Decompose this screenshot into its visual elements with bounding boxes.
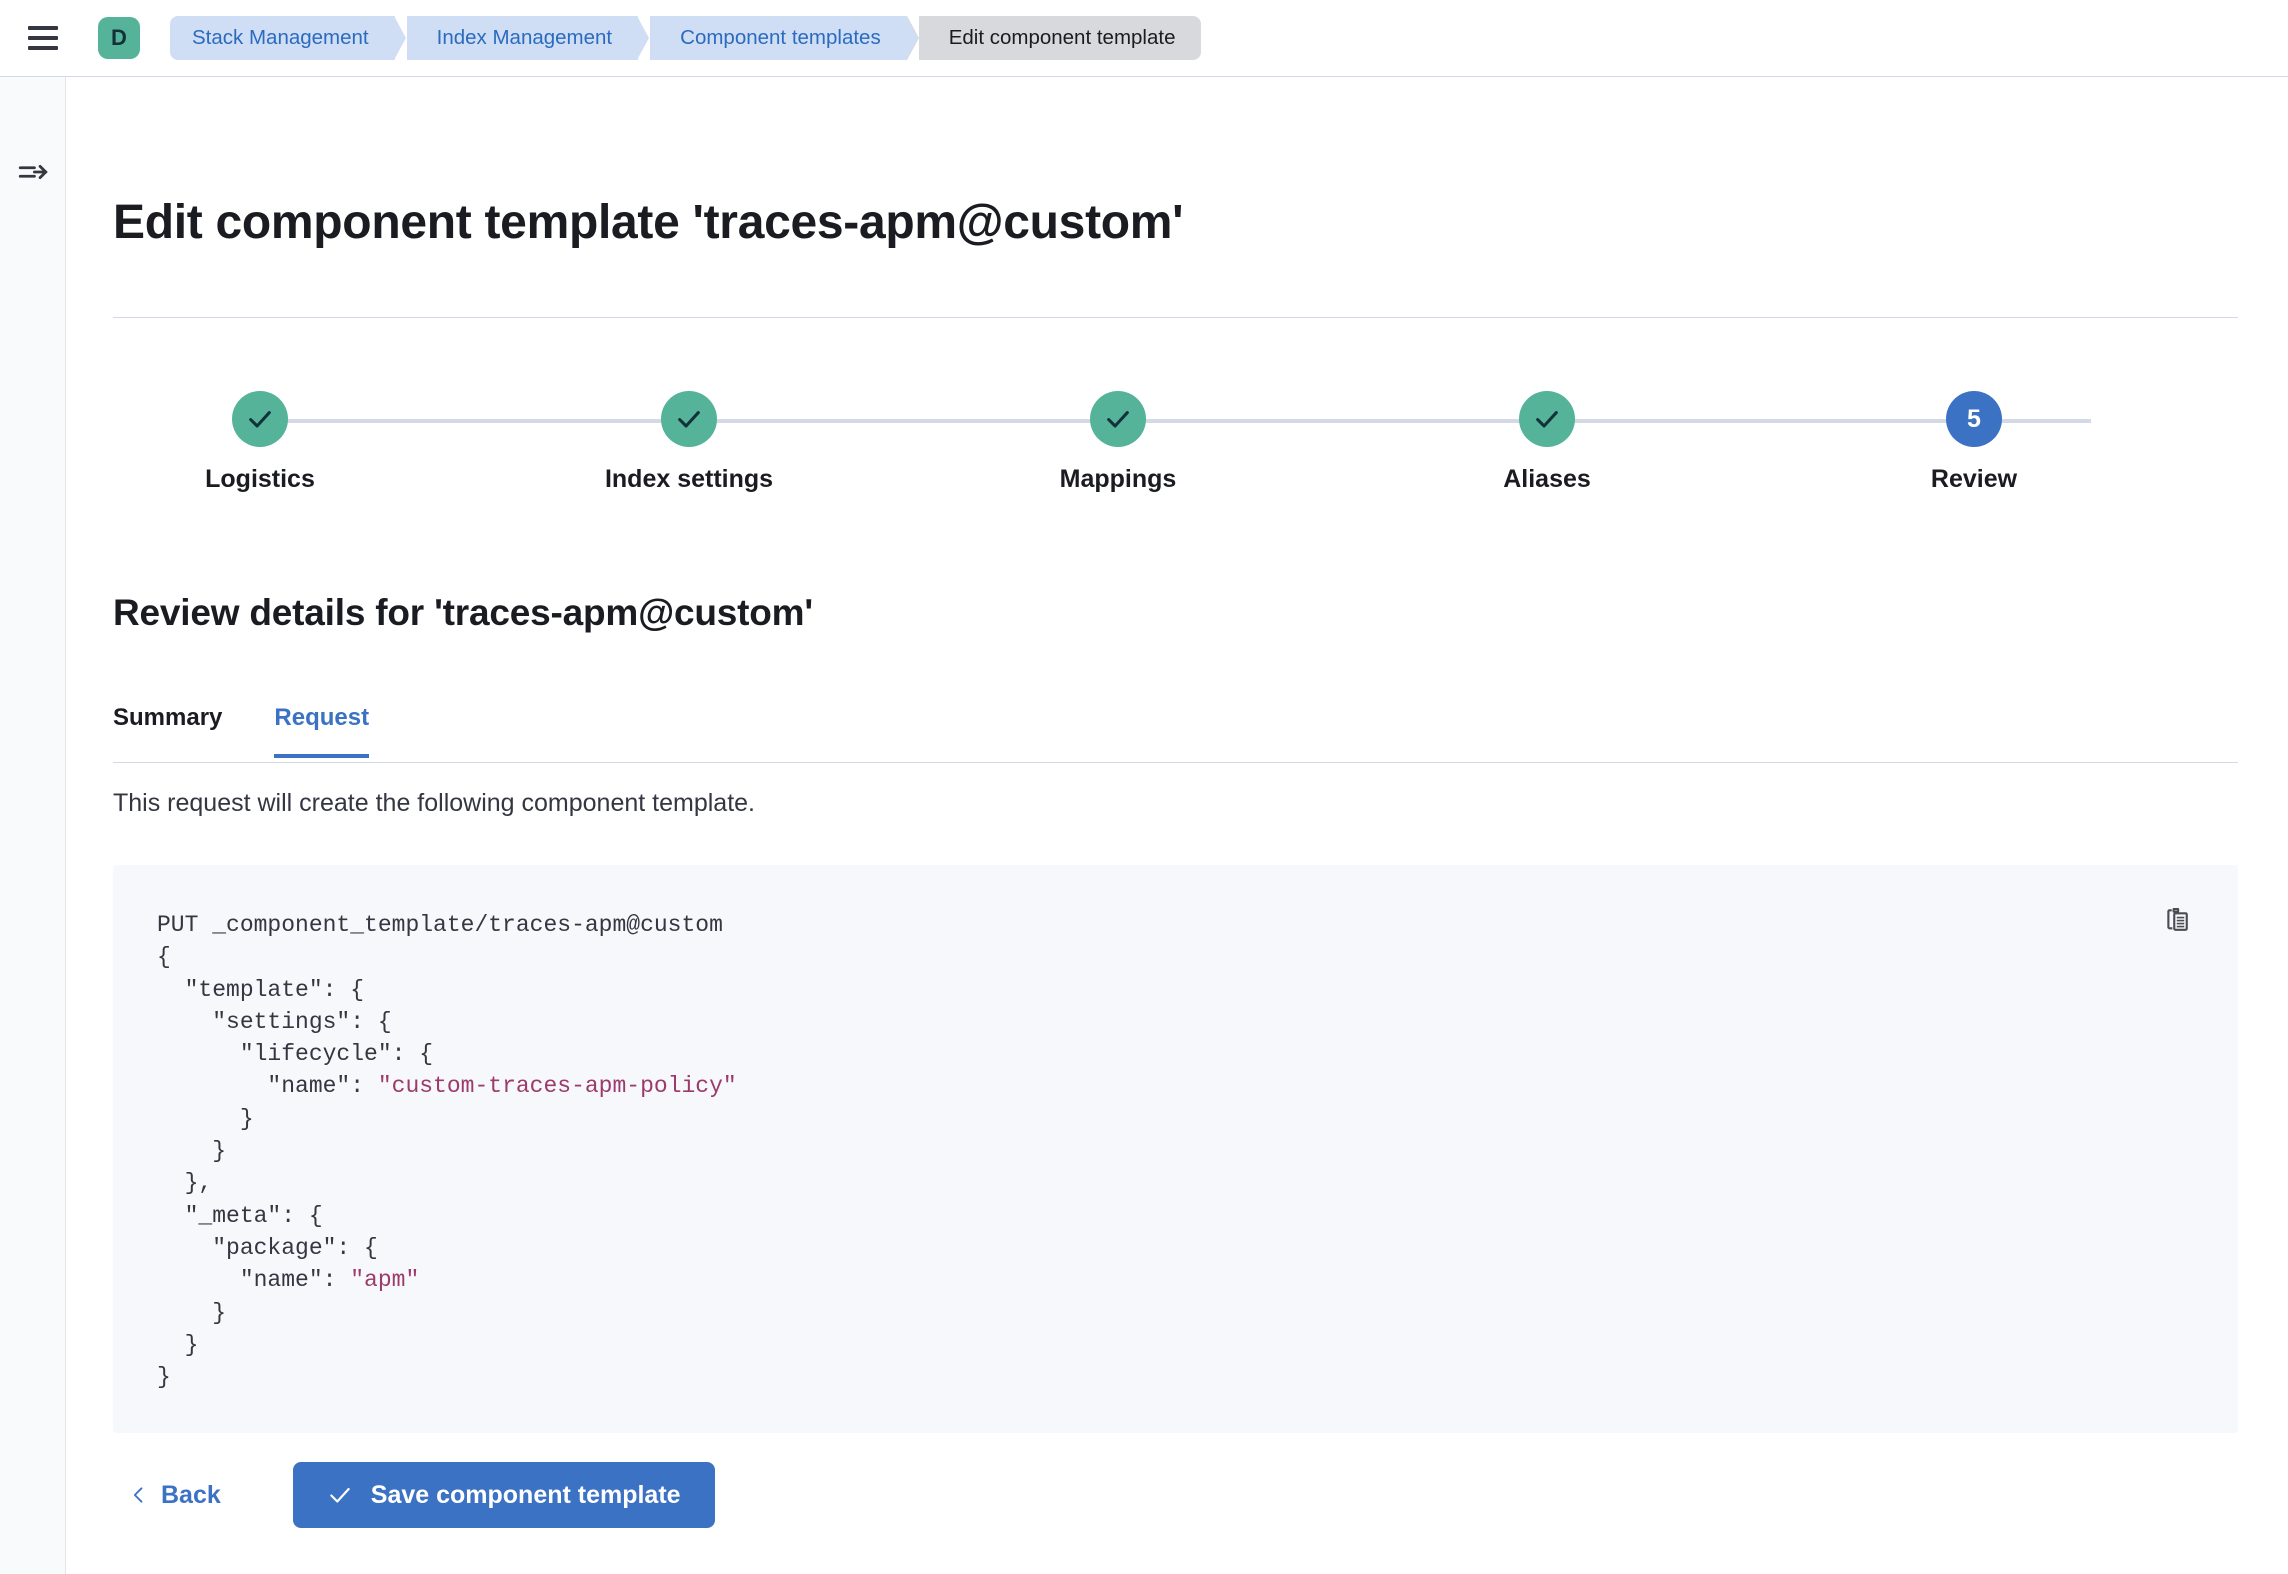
code-line: } [157, 1135, 737, 1167]
code-line: "lifecycle": { [157, 1038, 737, 1070]
step-circle-done[interactable] [232, 391, 288, 447]
step-circle-done[interactable] [661, 391, 717, 447]
code-line: "settings": { [157, 1006, 737, 1038]
left-nav-rail [0, 77, 66, 1574]
stepper-label: Logistics [130, 465, 390, 494]
code-line: }, [157, 1167, 737, 1199]
step-circle-done[interactable] [1519, 391, 1575, 447]
request-code-block: PUT _component_template/traces-apm@custo… [113, 865, 2238, 1433]
code-line: "template": { [157, 974, 737, 1006]
chevron-left-icon [129, 1485, 149, 1505]
wizard-stepper: Logistics Index settings Mappings Aliase… [113, 391, 2238, 516]
request-description: This request will create the following c… [113, 789, 755, 818]
request-code-text: PUT _component_template/traces-apm@custo… [157, 909, 737, 1393]
step-circle-current[interactable]: 5 [1946, 391, 2002, 447]
hamburger-bar [28, 26, 58, 30]
stepper-step-mappings[interactable]: Mappings [988, 391, 1248, 494]
breadcrumb-item-edit-component-template[interactable]: Edit component template [919, 16, 1202, 60]
code-line: } [157, 1103, 737, 1135]
hamburger-bar [28, 46, 58, 50]
step-circle-done[interactable] [1090, 391, 1146, 447]
code-line: "name": "custom-traces-apm-policy" [157, 1070, 737, 1102]
stepper-connector-line [260, 419, 2091, 423]
check-icon [246, 405, 274, 433]
code-line: } [157, 1361, 737, 1393]
code-string-value: "apm" [350, 1267, 419, 1293]
code-line: } [157, 1297, 737, 1329]
hamburger-bar [28, 36, 58, 40]
check-icon [1104, 405, 1132, 433]
stepper-step-logistics[interactable]: Logistics [130, 391, 390, 494]
title-divider [113, 317, 2238, 318]
top-header-bar: D Stack Management Index Management Comp… [0, 0, 2288, 77]
expand-nav-arrow-icon[interactable] [16, 155, 50, 189]
save-button-label: Save component template [371, 1481, 681, 1510]
stepper-label: Mappings [988, 465, 1248, 494]
code-line: "name": "apm" [157, 1264, 737, 1296]
stepper-step-index-settings[interactable]: Index settings [559, 391, 819, 494]
check-icon [675, 405, 703, 433]
main-content: Edit component template 'traces-apm@cust… [67, 77, 2288, 1574]
code-line: PUT _component_template/traces-apm@custo… [157, 909, 737, 941]
hamburger-menu-icon[interactable] [28, 21, 62, 55]
tab-summary[interactable]: Summary [113, 698, 222, 758]
check-icon [327, 1482, 353, 1508]
wizard-actions: Back Save component template [113, 1462, 715, 1528]
code-line: "package": { [157, 1232, 737, 1264]
code-string-value: "custom-traces-apm-policy" [378, 1073, 737, 1099]
save-component-template-button[interactable]: Save component template [293, 1462, 715, 1528]
stepper-step-review[interactable]: 5 Review [1844, 391, 2104, 494]
stepper-label: Review [1844, 465, 2104, 494]
code-line: { [157, 941, 737, 973]
page-title: Edit component template 'traces-apm@cust… [113, 195, 1183, 250]
check-icon [1533, 405, 1561, 433]
copy-clipboard-icon[interactable] [2156, 898, 2200, 942]
stepper-step-aliases[interactable]: Aliases [1417, 391, 1677, 494]
step-number: 5 [1967, 405, 1981, 434]
code-line: } [157, 1329, 737, 1361]
review-heading: Review details for 'traces-apm@custom' [113, 592, 813, 634]
breadcrumb-item-index-management[interactable]: Index Management [407, 16, 639, 60]
stepper-label: Index settings [559, 465, 819, 494]
stepper-label: Aliases [1417, 465, 1677, 494]
breadcrumb-item-component-templates[interactable]: Component templates [650, 16, 907, 60]
breadcrumb: Stack Management Index Management Compon… [170, 16, 1201, 60]
tab-request[interactable]: Request [274, 698, 369, 758]
back-button[interactable]: Back [113, 1471, 237, 1520]
code-line: "_meta": { [157, 1200, 737, 1232]
review-tabs: Summary Request [113, 697, 2238, 763]
avatar[interactable]: D [98, 17, 140, 59]
breadcrumb-item-stack-management[interactable]: Stack Management [170, 16, 395, 60]
back-button-label: Back [161, 1481, 221, 1510]
